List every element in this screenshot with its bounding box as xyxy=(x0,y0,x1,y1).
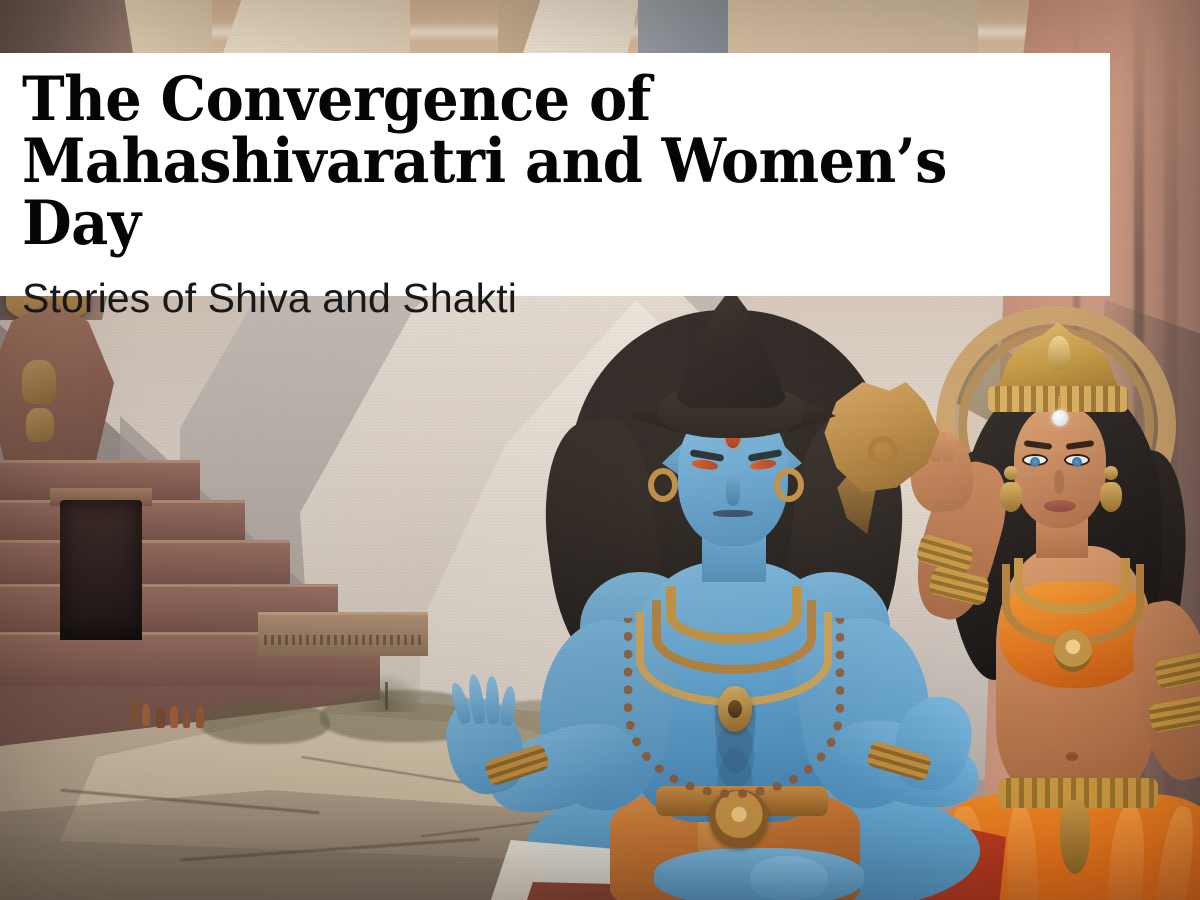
iris xyxy=(1030,457,1040,467)
desert-scrub xyxy=(200,700,330,744)
hoop-earring xyxy=(648,468,678,502)
temple-inscription-frieze xyxy=(258,612,428,656)
belt-pendant xyxy=(1060,800,1090,874)
acacia-tree xyxy=(352,672,422,712)
poster-canvas: The Convergence of Mahashivaratri and Wo… xyxy=(0,0,1200,900)
page-title: The Convergence of Mahashivaratri and Wo… xyxy=(22,69,1045,256)
pilgrim-figure xyxy=(170,706,178,728)
temple-step xyxy=(0,540,290,590)
pilgrim-figure xyxy=(142,704,150,726)
temple-doorway xyxy=(60,500,142,640)
finger xyxy=(485,676,500,724)
pilgrim-figure xyxy=(183,710,190,728)
necklace-pendant xyxy=(1054,630,1092,672)
necklace-inner xyxy=(1014,558,1130,614)
pilgrim-figure xyxy=(156,708,165,728)
iris xyxy=(1072,457,1082,467)
finger xyxy=(500,685,517,726)
page-subtitle: Stories of Shiva and Shakti xyxy=(22,276,1110,321)
temple-tower xyxy=(0,300,130,480)
necklace-inner xyxy=(666,586,802,644)
belt-buckle xyxy=(710,790,768,848)
pilgrim-figure xyxy=(196,706,204,728)
crown-jewel xyxy=(1048,336,1070,370)
maang-tikka xyxy=(1052,410,1068,426)
mouth xyxy=(713,510,753,517)
figure-shiva xyxy=(430,300,990,900)
nose xyxy=(1054,470,1064,494)
necklace-pendant xyxy=(718,686,752,732)
title-banner: The Convergence of Mahashivaratri and Wo… xyxy=(0,53,1110,296)
pilgrim-figure xyxy=(130,700,139,726)
jhumka-earring xyxy=(998,466,1022,520)
navel xyxy=(1066,752,1078,761)
temple-carving xyxy=(26,408,54,442)
foot xyxy=(750,856,828,900)
nose xyxy=(726,474,740,506)
damaru-ring xyxy=(868,436,898,466)
hoop-earring xyxy=(774,468,804,502)
temple-carving xyxy=(22,360,56,404)
lips xyxy=(1044,500,1076,512)
jhumka-earring xyxy=(1098,466,1122,520)
